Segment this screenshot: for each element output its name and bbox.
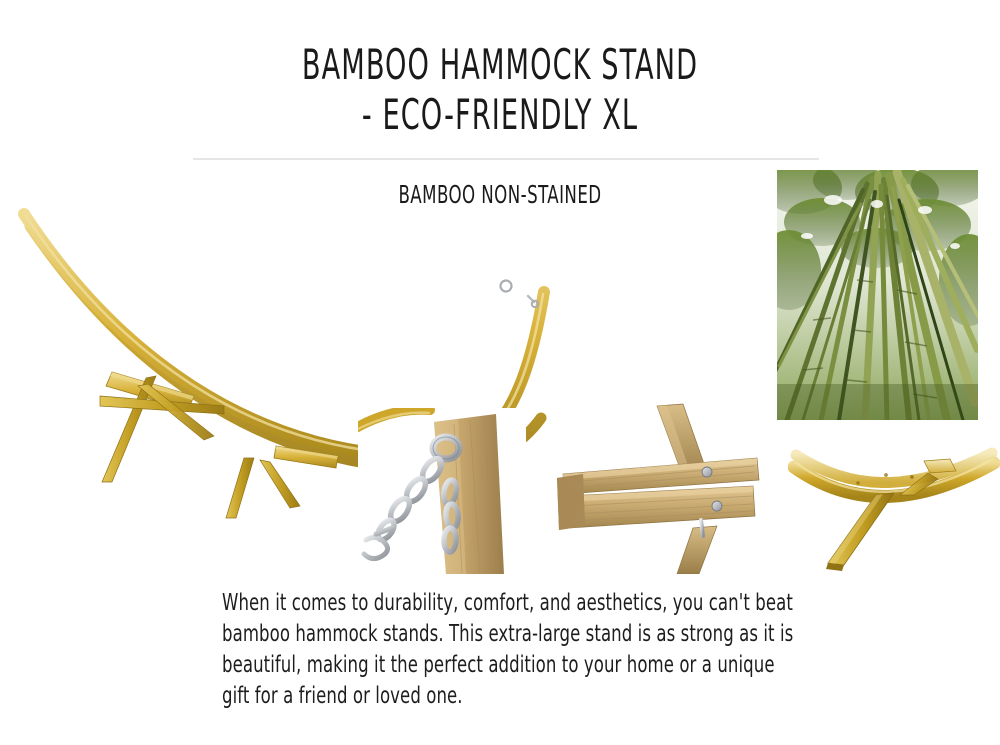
curved-beam-illustration bbox=[788, 437, 1000, 573]
bamboo-forest-illustration bbox=[777, 170, 978, 420]
bamboo-forest-photo bbox=[777, 170, 978, 420]
chain-hardware-illustration bbox=[358, 408, 526, 574]
product-info-page: BAMBOO HAMMOCK STAND - ECO-FRIENDLY XL B… bbox=[0, 0, 1000, 745]
joinery-illustration bbox=[557, 402, 765, 574]
detail-curved-beam-leg bbox=[788, 437, 1000, 573]
title-line-1: BAMBOO HAMMOCK STAND bbox=[140, 40, 860, 90]
detail-bamboo-joinery bbox=[557, 402, 765, 574]
title-line-2: - ECO-FRIENDLY XL bbox=[140, 90, 860, 140]
metal-eye-hook bbox=[501, 281, 539, 308]
leg-cross-right bbox=[226, 458, 300, 518]
page-title: BAMBOO HAMMOCK STAND - ECO-FRIENDLY XL bbox=[0, 40, 1000, 140]
product-description: When it comes to durability, comfort, an… bbox=[222, 588, 800, 712]
detail-chain-hardware bbox=[358, 408, 526, 574]
header-divider bbox=[193, 158, 819, 160]
